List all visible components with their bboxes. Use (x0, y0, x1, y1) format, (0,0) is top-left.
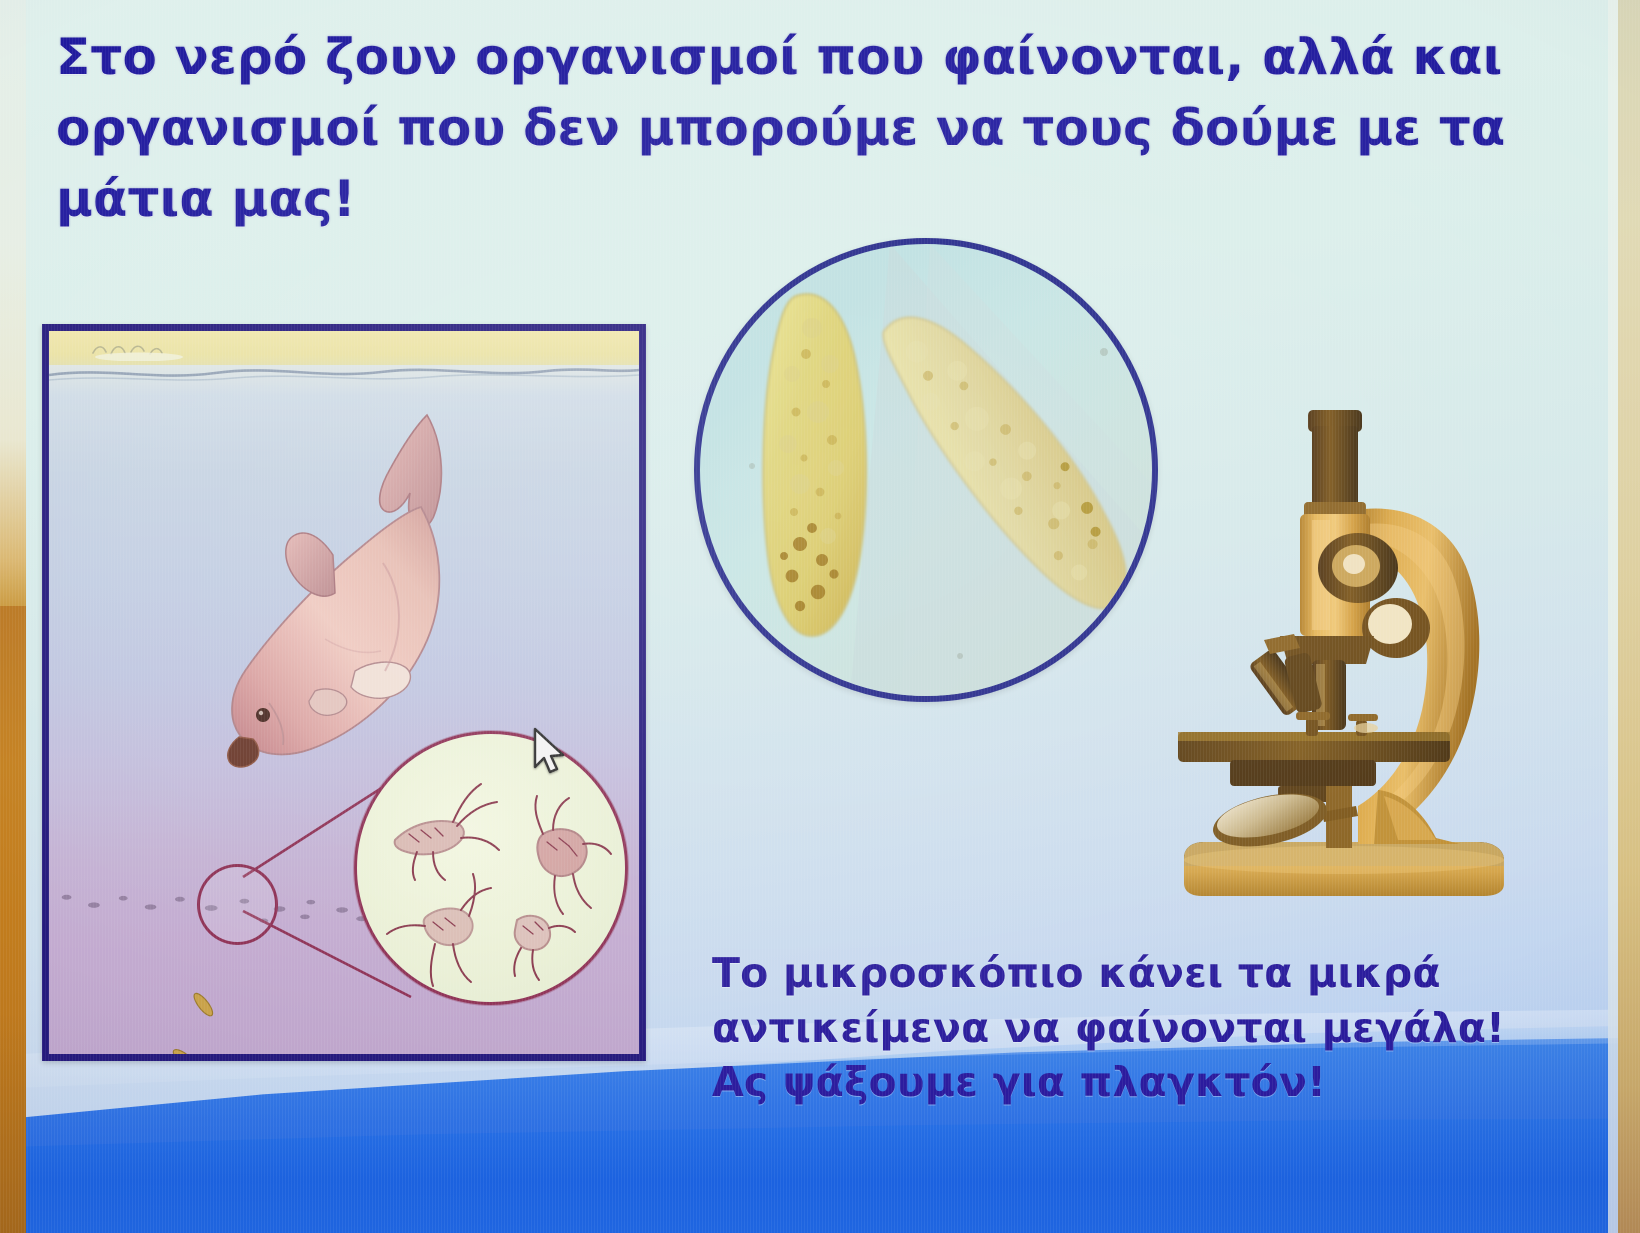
heading-line-1: Στο νερό ζουν οργανισμοί που φαίνονται, … (56, 22, 1496, 93)
magnifier-circle (354, 731, 628, 1005)
fine-focus-knob (1362, 598, 1430, 658)
fish-illustration-panel (42, 324, 646, 1061)
caption-line-3: Ας ψάξουμε για πλαγκτόν! (712, 1055, 1552, 1110)
microscope-illustration (1160, 392, 1560, 902)
paramecium-cells (700, 244, 1152, 696)
mouse-cursor-icon (531, 727, 571, 779)
caption-line-2: αντικείμενα να φαίνονται μεγάλα! (712, 1001, 1552, 1056)
caption-line-1: Το μικροσκόπιο κάνει τα μικρά (712, 946, 1552, 1001)
surface-foam (87, 337, 207, 361)
slide-heading: Στο νερό ζουν οργανισμοί που φαίνονται, … (56, 22, 1496, 235)
heading-line-2: οργανισμοί που δεν μπορούμε να τους δούμ… (56, 93, 1496, 164)
magnifier-source-circle (197, 864, 278, 945)
coarse-focus-knob (1318, 533, 1398, 603)
magnified-plankton (357, 734, 625, 1002)
presentation-slide: Στο νερό ζουν οργανισμοί που φαίνονται, … (0, 0, 1640, 1233)
paramecium-microscope-circle (694, 238, 1158, 702)
left-edge-wall-upper (0, 0, 26, 610)
left-edge-wall-lower (0, 606, 26, 1233)
right-edge-wall (1618, 0, 1640, 1233)
slide-caption: Το μικροσκόπιο κάνει τα μικρά αντικείμεν… (712, 946, 1552, 1110)
heading-line-3: μάτια μας! (56, 164, 1496, 235)
fish-illustration-canvas (49, 331, 639, 1054)
right-edge-inner-glow (1608, 0, 1618, 1233)
